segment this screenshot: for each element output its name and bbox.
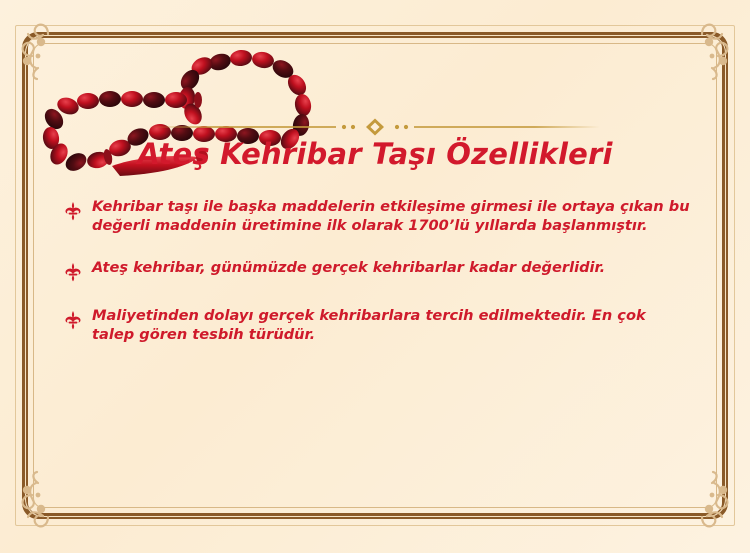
page-title: Ateş Kehribar Taşı Özellikleri xyxy=(0,138,750,171)
gold-diamond-divider-icon xyxy=(150,118,600,136)
list-item-text: Ateş kehribar, günümüzde gerçek kehribar… xyxy=(92,259,692,278)
list-item: Maliyetinden dolayı gerçek kehribarlara … xyxy=(62,307,692,344)
feature-list: Kehribar taşı ile başka maddelerin etkil… xyxy=(62,198,692,345)
fleur-de-lis-bullet-icon xyxy=(62,200,84,222)
corner-ornament-bottom-right-icon xyxy=(656,449,742,535)
fleur-de-lis-bullet-icon xyxy=(62,309,84,331)
header-block: Ateş Kehribar Taşı Özellikleri xyxy=(0,118,750,171)
list-item-text: Maliyetinden dolayı gerçek kehribarlara … xyxy=(92,307,692,344)
corner-ornament-top-left-icon xyxy=(8,16,94,102)
list-item-text: Kehribar taşı ile başka maddelerin etkil… xyxy=(92,198,692,235)
fleur-de-lis-bullet-icon xyxy=(62,261,84,283)
corner-ornament-top-right-icon xyxy=(656,16,742,102)
list-item: Kehribar taşı ile başka maddelerin etkil… xyxy=(62,198,692,235)
certificate-card: Ateş Kehribar Taşı Özellikleri Kehribar … xyxy=(0,0,750,553)
list-item: Ateş kehribar, günümüzde gerçek kehribar… xyxy=(62,259,692,283)
corner-ornament-bottom-left-icon xyxy=(8,449,94,535)
